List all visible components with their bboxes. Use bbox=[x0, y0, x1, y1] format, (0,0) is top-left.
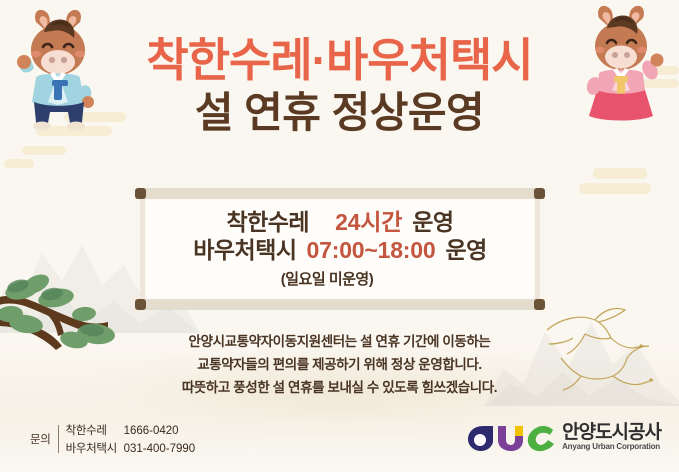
contact-number-chakhan-sure[interactable]: 1666-0420 bbox=[124, 425, 179, 437]
scroll-knob-top-left bbox=[135, 188, 146, 199]
contact-number-voucher-taxi[interactable]: 031-400-7990 bbox=[124, 443, 196, 455]
body-line-1: 안양시교통약자이동지원센터는 설 연휴 기간에 이동하는 bbox=[0, 330, 679, 353]
contact-name-chakhan-sure: 착한수레 bbox=[66, 422, 124, 438]
scroll-knob-bottom-left bbox=[135, 299, 146, 310]
scroll-knob-top-right bbox=[534, 188, 545, 199]
contact-row-chakhan-sure: 착한수레 1666-0420 bbox=[66, 422, 196, 438]
logo-text-block: 안양도시공사 Anyang Urban Corporation bbox=[562, 423, 661, 451]
contact-list: 착한수레 1666-0420 바우처택시 031-400-7990 bbox=[66, 422, 196, 456]
cloud-decoration-right-lower bbox=[579, 168, 651, 198]
service-row-chakhan-sure: 착한수레 24시간 운영 bbox=[158, 209, 522, 236]
body-line-3: 따뜻하고 풍성한 설 연휴를 보내실 수 있도록 힘쓰겠습니다. bbox=[0, 376, 679, 399]
scroll-rail-left bbox=[140, 188, 145, 310]
title-line-1: 착한수레·바우처택시 bbox=[0, 34, 679, 87]
scroll-rail-right bbox=[535, 188, 540, 310]
service-suffix-chakhan-sure: 운영 bbox=[412, 209, 453, 236]
notice-body-paragraph: 안양시교통약자이동지원센터는 설 연휴 기간에 이동하는 교통약자들의 편의를 … bbox=[0, 330, 679, 400]
service-suffix-voucher-taxi: 운영 bbox=[445, 237, 486, 264]
contact-block: 문의 착한수레 1666-0420 바우처택시 031-400-7990 bbox=[30, 422, 195, 456]
service-name-chakhan-sure: 착한수레 bbox=[226, 209, 309, 236]
service-hours-chakhan-sure: 24시간 bbox=[335, 209, 402, 236]
poster-canvas: 착한수레·바우처택시 설 연휴 정상운영 착한수레 24시간 운영 바우처택시 … bbox=[0, 0, 679, 472]
scroll-content: 착한수레 24시간 운영 바우처택시 07:00~18:00 운영 (일요일 미… bbox=[146, 199, 534, 299]
sunday-closed-note: (일요일 미운영) bbox=[158, 268, 522, 289]
auc-logo-mark-icon bbox=[467, 422, 555, 452]
service-name-voucher-taxi: 바우처택시 bbox=[193, 237, 296, 264]
scroll-bar-top bbox=[140, 188, 540, 199]
logo-korean-name: 안양도시공사 bbox=[562, 423, 661, 443]
scroll-bar-bottom bbox=[140, 299, 540, 310]
cloud-decoration-left-lower bbox=[4, 146, 66, 172]
body-line-2: 교통약자들의 편의를 제공하기 위해 정상 운영합니다. bbox=[0, 353, 679, 376]
service-hours-voucher-taxi: 07:00~18:00 bbox=[307, 237, 436, 264]
logo-english-name: Anyang Urban Corporation bbox=[562, 443, 661, 451]
poster-title: 착한수레·바우처택시 설 연휴 정상운영 bbox=[0, 34, 679, 139]
organization-logo: 안양도시공사 Anyang Urban Corporation bbox=[467, 422, 661, 452]
contact-name-voucher-taxi: 바우처택시 bbox=[66, 440, 124, 456]
title-line-2: 설 연휴 정상운영 bbox=[0, 87, 679, 140]
contact-heading-label: 문의 bbox=[30, 431, 51, 447]
operating-hours-scroll-box: 착한수레 24시간 운영 바우처택시 07:00~18:00 운영 (일요일 미… bbox=[146, 188, 534, 310]
contact-row-voucher-taxi: 바우처택시 031-400-7990 bbox=[66, 440, 196, 456]
contact-divider bbox=[58, 425, 59, 453]
service-row-voucher-taxi: 바우처택시 07:00~18:00 운영 bbox=[158, 237, 522, 264]
scroll-knob-bottom-right bbox=[534, 299, 545, 310]
